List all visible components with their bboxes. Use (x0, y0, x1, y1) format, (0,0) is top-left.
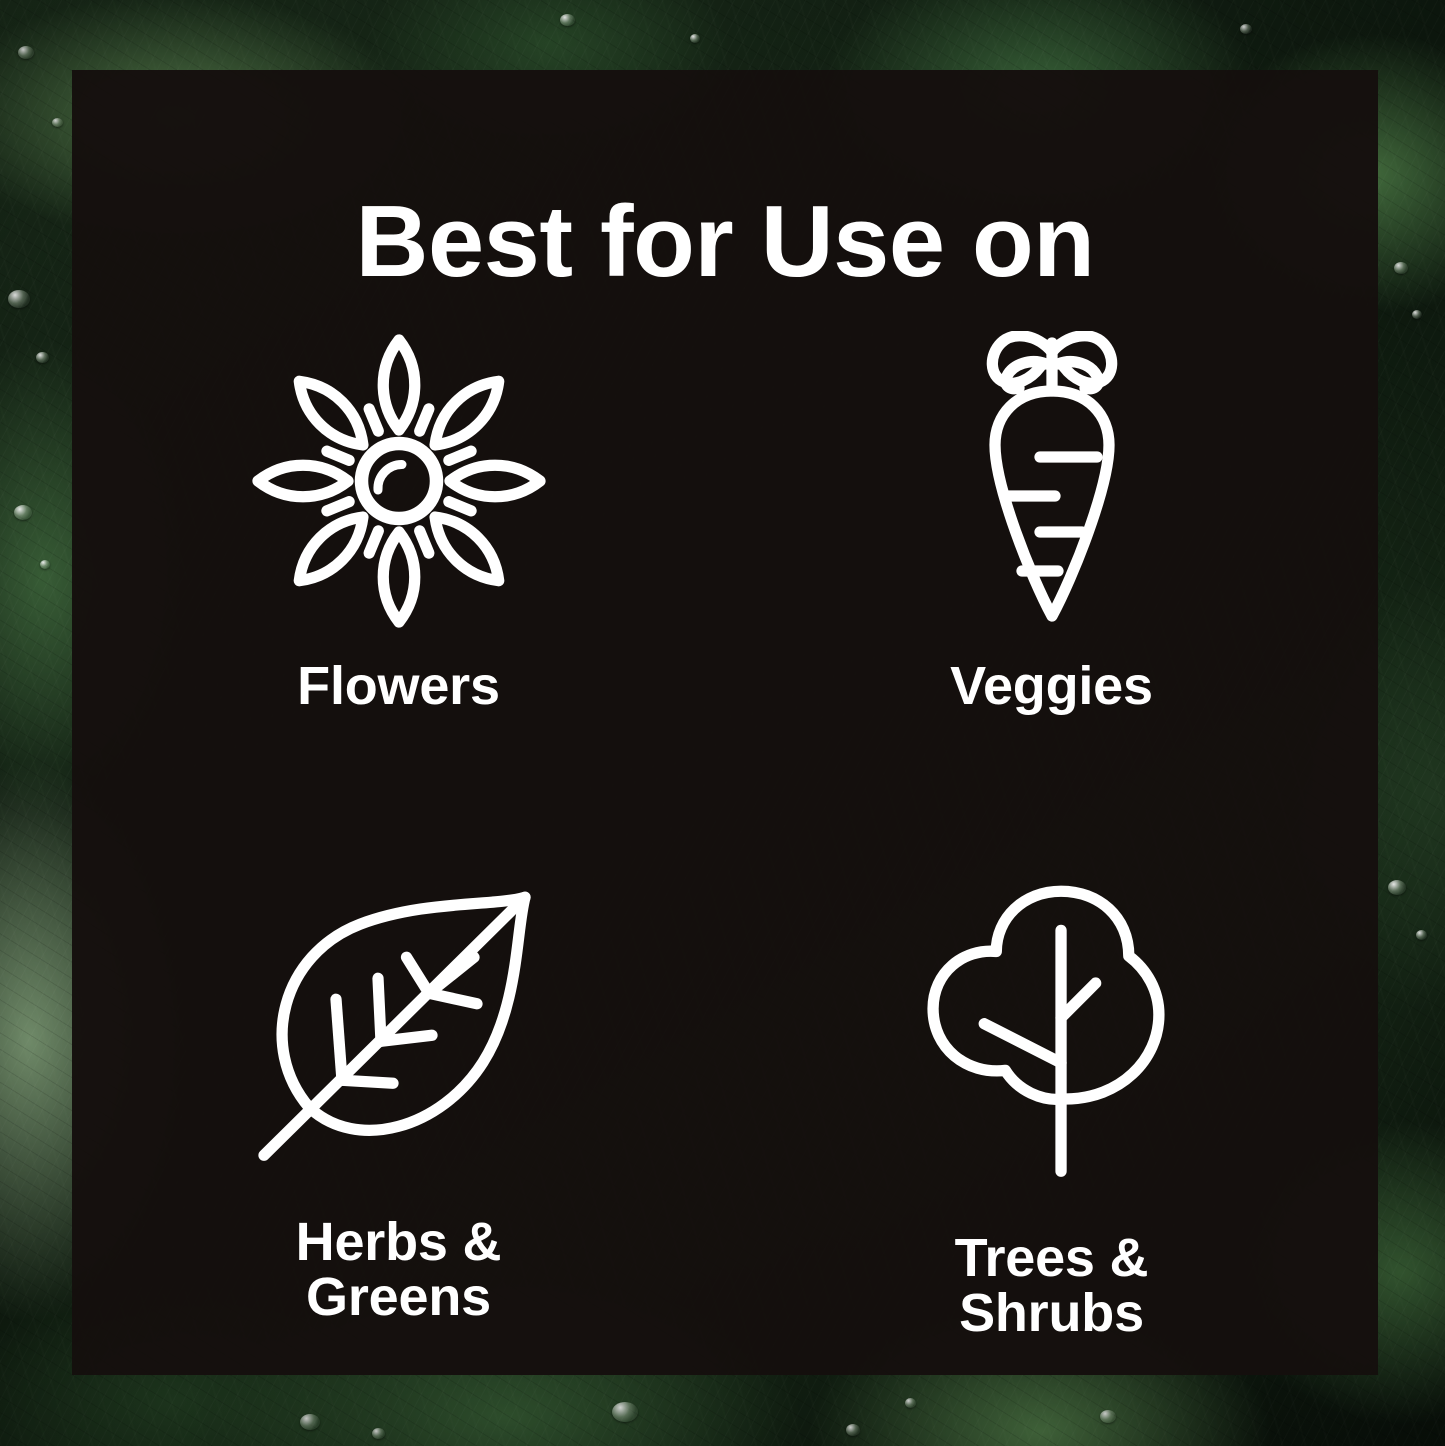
grid-item-label: Herbs & Greens (296, 1215, 502, 1325)
benefit-grid: Flowers (72, 307, 1378, 1375)
grid-item-trees-shrubs: Trees & Shrubs (725, 841, 1378, 1375)
tree-icon (918, 879, 1186, 1185)
grid-item-herbs-greens: Herbs & Greens (72, 841, 725, 1375)
promo-graphic: Best for Use on (0, 0, 1445, 1446)
grid-item-label: Flowers (297, 659, 500, 714)
flower-icon (243, 331, 555, 631)
grid-item-veggies: Veggies (725, 307, 1378, 841)
carrot-icon (953, 331, 1151, 631)
page-title: Best for Use on (72, 192, 1378, 293)
leaf-icon (249, 879, 549, 1169)
panel-content: Best for Use on (72, 70, 1378, 1375)
grid-item-label: Veggies (950, 659, 1153, 714)
grid-item-flowers: Flowers (72, 307, 725, 841)
grid-item-label: Trees & Shrubs (955, 1231, 1149, 1341)
